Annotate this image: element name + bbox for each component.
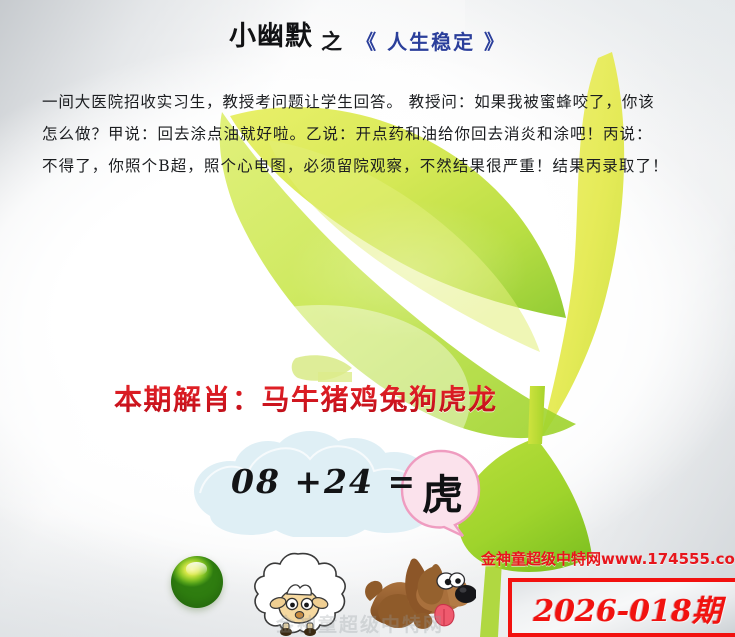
poster-canvas: 虎 小幽默 之 《 人生稳定 》 一间大医院招收实习生，教授考问题让学生回答。 … — [0, 0, 735, 637]
poster-header: 小幽默 之 《 人生稳定 》 — [0, 14, 735, 53]
site-url-line: 金神童超级中特网www.174555.com — [481, 548, 735, 569]
issue-number-text: 2026-018期 — [512, 582, 735, 633]
issue-number-box: 2026-018期 — [508, 578, 735, 637]
joke-line-1: 一间大医院招收实习生，教授考问题让学生回答。 教授问：如果我被蜜蜂咬了，你该 — [42, 86, 694, 118]
joke-body: 一间大医院招收实习生，教授考问题让学生回答。 教授问：如果我被蜜蜂咬了，你该 怎… — [42, 86, 694, 182]
equation-expression: 08 +24 = — [231, 462, 417, 501]
title-subtitle: 《 人生稳定 》 — [356, 30, 506, 54]
footer-watermark: 金神童超级中特网 — [150, 603, 570, 637]
title-main: 小幽默 — [229, 21, 313, 52]
joke-line-2: 怎么做？甲说：回去涂点油就好啦。乙说：开点药和油给你回去消炎和涂吧！丙说： — [42, 118, 694, 150]
zodiac-headline: 本期解肖：马牛猪鸡兔狗虎龙 — [114, 378, 498, 418]
title-connector: 之 — [321, 30, 342, 54]
joke-line-3: 不得了，你照个B超，照个心电图，必须留院观察，不然结果很严重！结果丙录取了！ — [42, 150, 694, 182]
green-ball-icon — [171, 556, 223, 608]
